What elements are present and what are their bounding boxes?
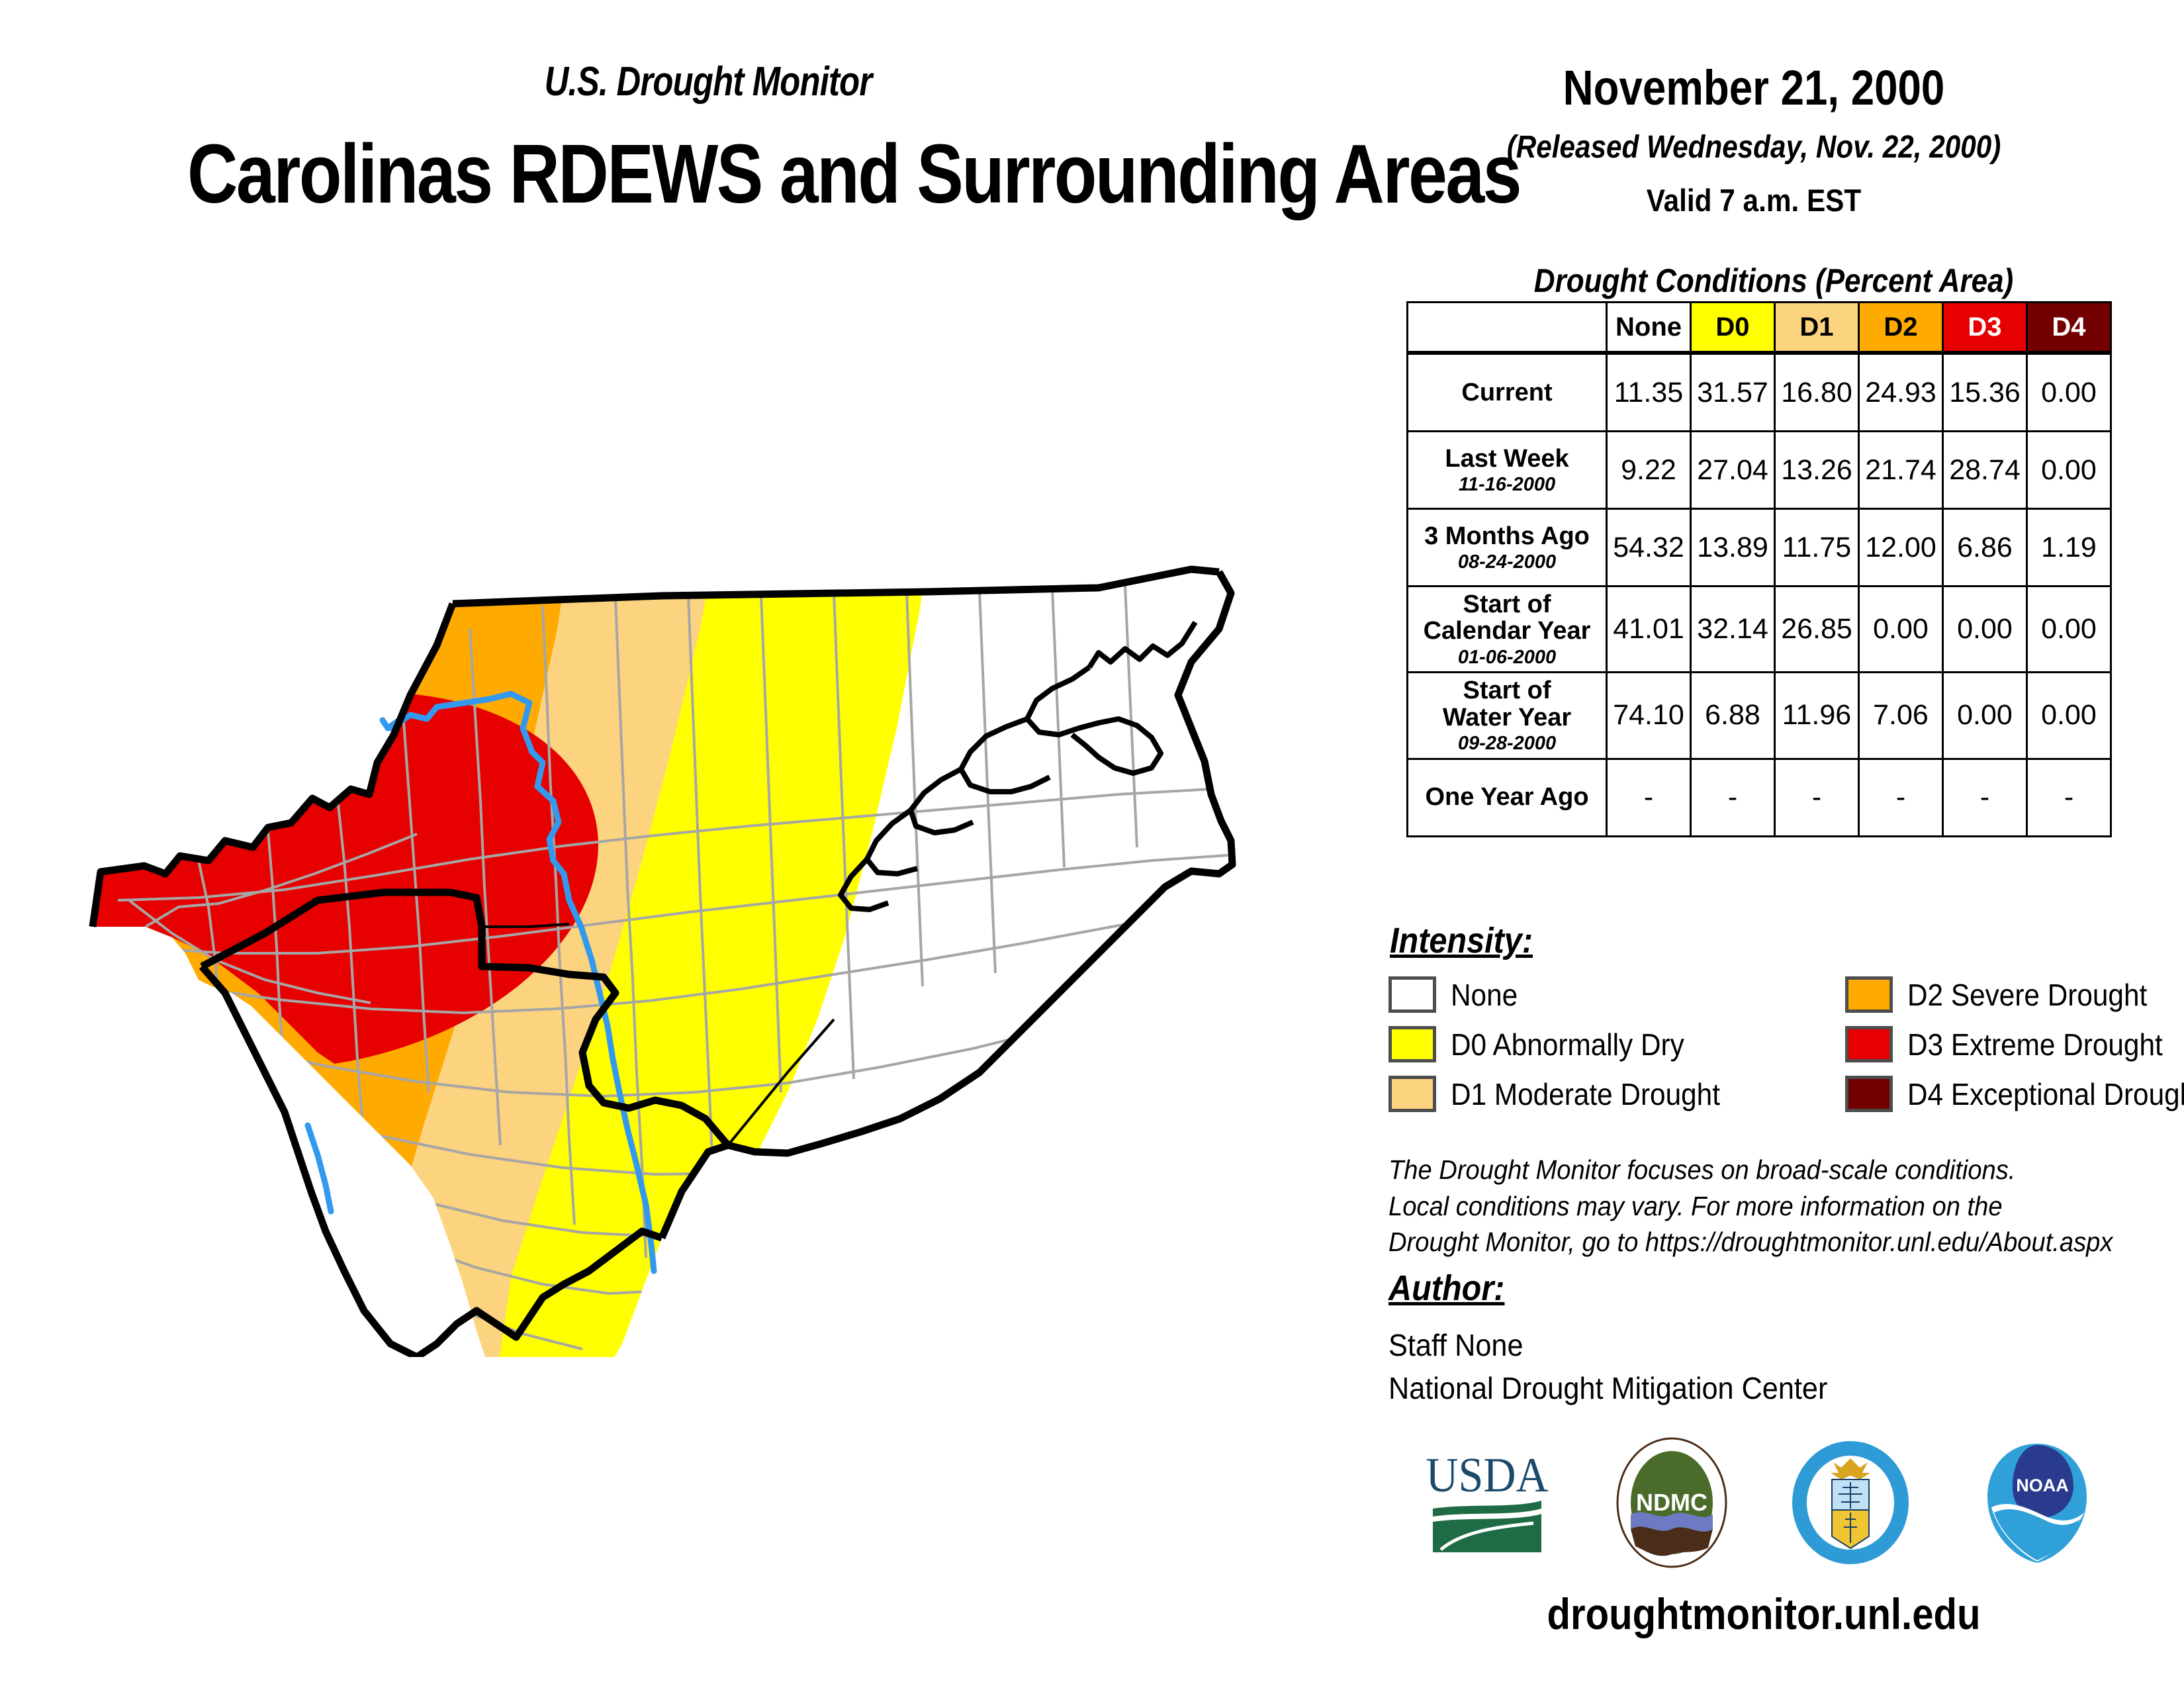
- release-date: (Released Wednesday, Nov. 22, 2000): [1492, 129, 2016, 165]
- cell-d1: 13.26: [1775, 432, 1859, 509]
- table-row: Current11.3531.5716.8024.9315.360.00: [1408, 353, 2111, 432]
- disclaimer-line-3: Drought Monitor, go to https://droughtmo…: [1388, 1224, 2115, 1260]
- noaa-logo: NOAA: [1974, 1438, 2100, 1568]
- valid-date: November 21, 2000: [1520, 60, 1987, 116]
- author-block: Staff None National Drought Mitigation C…: [1388, 1324, 1856, 1411]
- cell-none: 54.32: [1607, 509, 1691, 586]
- table-row: One Year Ago------: [1408, 759, 2111, 836]
- legend-label-d1: D1 Moderate Drought: [1451, 1076, 1720, 1112]
- cell-d3: 28.74: [1943, 432, 2027, 509]
- legend-item-none: None: [1388, 970, 1845, 1019]
- cell-d1: -: [1775, 759, 1859, 836]
- cell-d2: 12.00: [1859, 509, 1943, 586]
- cell-none: 9.22: [1607, 432, 1691, 509]
- cell-d1: 26.85: [1775, 586, 1859, 673]
- cell-d4: -: [2027, 759, 2111, 836]
- row-label: Last Week11-16-2000: [1408, 432, 1607, 509]
- disclaimer-line-2: Local conditions may vary. For more info…: [1388, 1188, 2115, 1225]
- col-header-none: None: [1607, 303, 1691, 353]
- cell-none: 41.01: [1607, 586, 1691, 673]
- cell-d3: 6.86: [1943, 509, 2027, 586]
- cell-d4: 0.00: [2027, 586, 2111, 673]
- row-sub-date: 08-24-2000: [1411, 552, 1603, 573]
- svg-text:NOAA: NOAA: [2016, 1476, 2069, 1495]
- cell-d0: 31.57: [1691, 353, 1775, 432]
- row-label: 3 Months Ago08-24-2000: [1408, 509, 1607, 586]
- table-header-row: None D0 D1 D2 D3 D4: [1408, 303, 2111, 353]
- drought-conditions-table: None D0 D1 D2 D3 D4 Current11.3531.5716.…: [1406, 301, 2112, 837]
- cell-d2: 24.93: [1859, 353, 1943, 432]
- valid-time: Valid 7 a.m. EST: [1563, 182, 1944, 218]
- row-label: Start ofCalendar Year01-06-2000: [1408, 586, 1607, 673]
- legend-swatch-d2: [1845, 976, 1893, 1013]
- author-name: Staff None: [1388, 1324, 1827, 1367]
- cell-d0: 6.88: [1691, 673, 1775, 759]
- cell-d2: 0.00: [1859, 586, 1943, 673]
- legend-swatch-d1: [1388, 1076, 1436, 1112]
- legend-label-none: None: [1451, 977, 1518, 1013]
- cell-d3: -: [1943, 759, 2027, 836]
- row-sub-date: 11-16-2000: [1411, 475, 1603, 495]
- legend-swatch-d4: [1845, 1076, 1893, 1112]
- cell-none: -: [1607, 759, 1691, 836]
- legend-item-d2: D2 Severe Drought: [1845, 970, 2184, 1019]
- legend-item-d1: D1 Moderate Drought: [1388, 1069, 1845, 1119]
- table-body: Current11.3531.5716.8024.9315.360.00Last…: [1408, 353, 2111, 836]
- svg-text:NDMC: NDMC: [1636, 1489, 1707, 1516]
- table-row: Start ofCalendar Year01-06-200041.0132.1…: [1408, 586, 2111, 673]
- cell-none: 74.10: [1607, 673, 1691, 759]
- cell-d0: 32.14: [1691, 586, 1775, 673]
- cell-d1: 11.75: [1775, 509, 1859, 586]
- ndmc-logo: NDMC: [1615, 1436, 1728, 1569]
- legend-swatch-d0: [1388, 1026, 1436, 1062]
- cell-none: 11.35: [1607, 353, 1691, 432]
- table-title: Drought Conditions (Percent Area): [1424, 261, 2123, 300]
- cell-d2: -: [1859, 759, 1943, 836]
- cell-d4: 0.00: [2027, 353, 2111, 432]
- cell-d4: 0.00: [2027, 673, 2111, 759]
- program-title: U.S. Drought Monitor: [464, 58, 952, 105]
- col-header-d0: D0: [1691, 303, 1775, 353]
- author-affiliation: National Drought Mitigation Center: [1388, 1367, 1827, 1410]
- table-row: Start ofWater Year09-28-200074.106.8811.…: [1408, 673, 2111, 759]
- table-row: 3 Months Ago08-24-200054.3213.8911.7512.…: [1408, 509, 2111, 586]
- cell-d1: 16.80: [1775, 353, 1859, 432]
- table-corner-cell: [1408, 303, 1607, 353]
- cell-d4: 1.19: [2027, 509, 2111, 586]
- disclaimer-line-1: The Drought Monitor focuses on broad-sca…: [1388, 1152, 2115, 1188]
- cell-d0: -: [1691, 759, 1775, 836]
- cell-d3: 0.00: [1943, 673, 2027, 759]
- disclaimer: The Drought Monitor focuses on broad-sca…: [1388, 1152, 2169, 1260]
- row-label: One Year Ago: [1408, 759, 1607, 836]
- svg-text:USDA: USDA: [1426, 1448, 1548, 1502]
- row-sub-date: 09-28-2000: [1411, 733, 1603, 754]
- intensity-legend: NoneD2 Severe DroughtD0 Abnormally DryD3…: [1388, 970, 2169, 1119]
- row-label: Start ofWater Year09-28-2000: [1408, 673, 1607, 759]
- cell-d3: 0.00: [1943, 586, 2027, 673]
- col-header-d2: D2: [1859, 303, 1943, 353]
- cell-d1: 11.96: [1775, 673, 1859, 759]
- legend-item-d3: D3 Extreme Drought: [1845, 1019, 2184, 1069]
- page-title: Carolinas RDEWS and Surrounding Areas: [103, 126, 1604, 222]
- cell-d3: 15.36: [1943, 353, 2027, 432]
- legend-swatch-none: [1388, 976, 1436, 1013]
- row-label: Current: [1408, 353, 1607, 432]
- legend-item-d0: D0 Abnormally Dry: [1388, 1019, 1845, 1069]
- col-header-d4: D4: [2027, 303, 2111, 353]
- col-header-d1: D1: [1775, 303, 1859, 353]
- department-of-commerce-seal: [1790, 1438, 1912, 1568]
- legend-label-d3: D3 Extreme Drought: [1907, 1027, 2163, 1062]
- cell-d2: 21.74: [1859, 432, 1943, 509]
- row-sub-date: 01-06-2000: [1411, 647, 1603, 668]
- col-header-d3: D3: [1943, 303, 2027, 353]
- author-heading: Author:: [1388, 1268, 1504, 1309]
- drought-map[interactable]: [66, 530, 1337, 1357]
- cell-d0: 13.89: [1691, 509, 1775, 586]
- legend-label-d0: D0 Abnormally Dry: [1451, 1027, 1684, 1062]
- agency-logos: USDA NDMC NOAA: [1390, 1433, 2131, 1572]
- cell-d2: 7.06: [1859, 673, 1943, 759]
- site-url[interactable]: droughtmonitor.unl.edu: [1435, 1589, 2093, 1639]
- legend-heading: Intensity:: [1390, 920, 1533, 961]
- table-row: Last Week11-16-20009.2227.0413.2621.7428…: [1408, 432, 2111, 509]
- legend-swatch-d3: [1845, 1026, 1893, 1062]
- cell-d0: 27.04: [1691, 432, 1775, 509]
- legend-label-d4: D4 Exceptional Drought: [1907, 1076, 2184, 1112]
- legend-item-d4: D4 Exceptional Drought: [1845, 1069, 2184, 1119]
- legend-label-d2: D2 Severe Drought: [1907, 977, 2147, 1013]
- usda-logo: USDA: [1421, 1440, 1553, 1566]
- cell-d4: 0.00: [2027, 432, 2111, 509]
